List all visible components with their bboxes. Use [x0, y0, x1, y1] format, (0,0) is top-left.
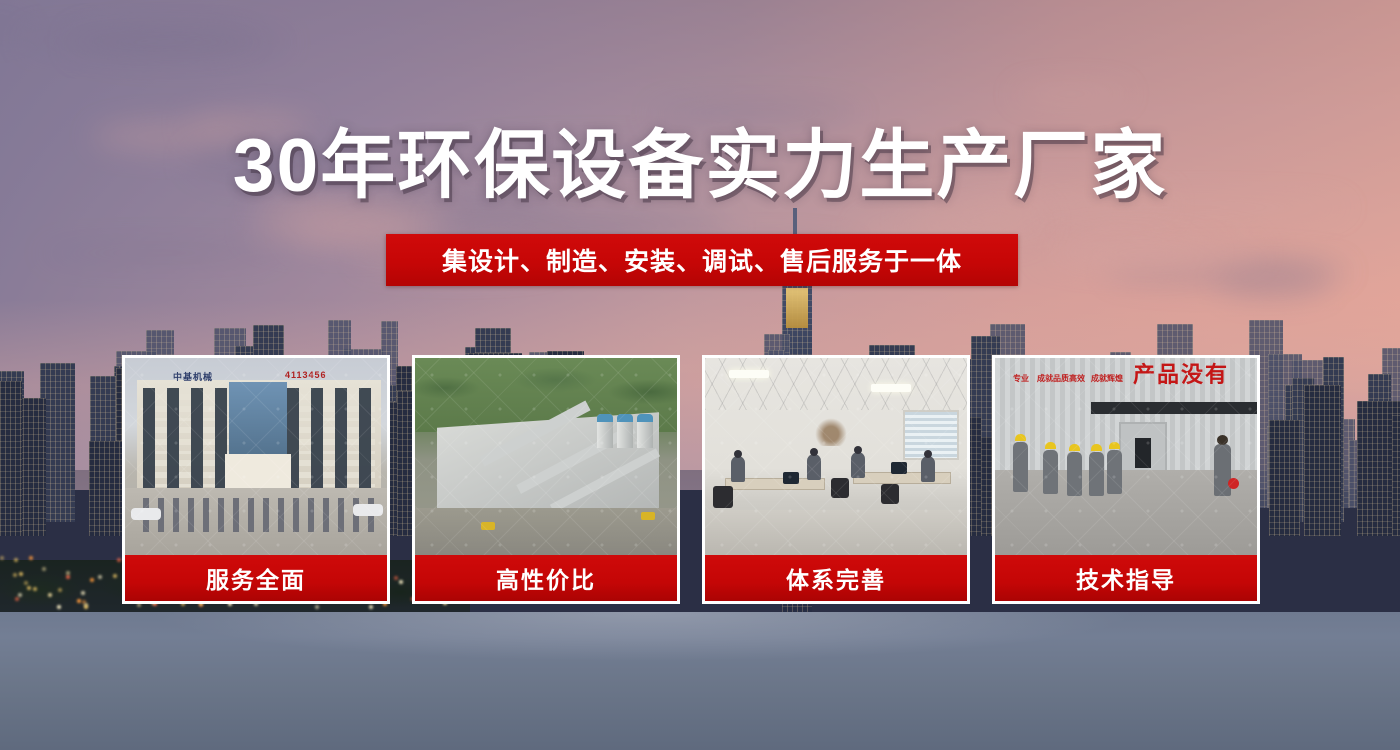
floor	[705, 510, 967, 555]
company-sign-text: 中基机械	[173, 370, 213, 383]
tower-crown-light	[786, 288, 808, 328]
factory-slogan-d: 成就辉煌	[1091, 374, 1123, 384]
staff-row	[143, 498, 375, 532]
water-reflection	[0, 612, 1400, 672]
card-photo-office-interior	[702, 355, 970, 555]
factory-slogan-c: 高效	[1069, 374, 1085, 384]
red-helmet	[1228, 478, 1239, 489]
page-title: 30年环保设备实力生产厂家	[0, 128, 1400, 203]
feature-card[interactable]: 高性价比	[412, 355, 680, 607]
person	[921, 456, 935, 482]
parked-car	[353, 504, 383, 516]
storage-silo	[597, 414, 613, 448]
feature-card[interactable]: 中基机械 4113456 服务全面	[122, 355, 390, 607]
worker	[1043, 450, 1058, 494]
subtitle-text: 集设计、制造、安装、调试、售后服务于一体	[442, 242, 962, 278]
supervisor	[1214, 444, 1231, 496]
office-chair	[831, 478, 849, 498]
ceiling-light	[729, 370, 769, 378]
wall-decal	[813, 416, 849, 446]
excavator	[641, 512, 655, 520]
worker	[1013, 442, 1028, 492]
ceiling-grid	[705, 358, 967, 410]
card-caption: 高性价比	[412, 555, 680, 604]
card-caption-label: 体系完善	[786, 561, 886, 595]
card-caption-label: 服务全面	[206, 561, 306, 595]
monitor	[783, 472, 799, 484]
card-caption-label: 高性价比	[496, 561, 596, 595]
feature-card[interactable]: 体系完善	[702, 355, 970, 607]
card-caption: 服务全面	[122, 555, 390, 604]
company-phone-text: 4113456	[285, 370, 327, 380]
person	[731, 456, 745, 482]
office-chair	[881, 484, 899, 504]
card-photo-workers-briefing: 产品没有 专业 成就品质 高效 成就辉煌	[992, 355, 1260, 555]
storage-silo	[617, 414, 633, 448]
parked-car	[131, 508, 161, 520]
factory-slogan-headline: 产品没有	[1133, 364, 1229, 386]
card-caption: 技术指导	[992, 555, 1260, 604]
card-photo-office-building: 中基机械 4113456	[122, 355, 390, 555]
monitor	[891, 462, 907, 474]
wall-vent-strip	[1091, 402, 1259, 414]
building-entrance	[225, 454, 291, 488]
banner-stage: 30年环保设备实力生产厂家 集设计、制造、安装、调试、售后服务于一体 中基机械 …	[0, 0, 1400, 750]
ceiling-light	[871, 384, 911, 392]
plant-yard	[415, 508, 677, 555]
worker	[1067, 452, 1082, 496]
storage-silo	[637, 414, 653, 448]
feature-card[interactable]: 产品没有 专业 成就品质 高效 成就辉煌 技术指导	[992, 355, 1260, 607]
factory-slogan-a: 专业	[1013, 374, 1029, 384]
subtitle-banner: 集设计、制造、安装、调试、售后服务于一体	[386, 234, 1018, 286]
person	[807, 454, 821, 480]
card-caption: 体系完善	[702, 555, 970, 604]
person	[851, 452, 865, 478]
worker	[1107, 450, 1122, 494]
factory-gate	[1135, 438, 1151, 468]
feature-card-list: 中基机械 4113456 服务全面	[122, 355, 1280, 607]
office-chair	[713, 486, 733, 508]
card-caption-label: 技术指导	[1076, 561, 1176, 595]
card-photo-plant-aerial	[412, 355, 680, 555]
factory-slogan-b: 成就品质	[1037, 374, 1069, 384]
worker	[1089, 452, 1104, 496]
excavator	[481, 522, 495, 530]
